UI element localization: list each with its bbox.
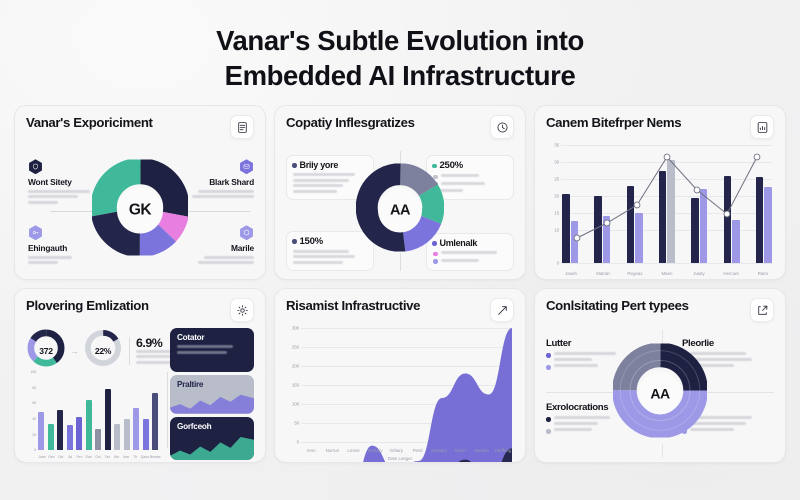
x-tick: Jul [66,455,74,459]
x-tick: Raire [754,271,772,276]
x-tick: Gan [85,455,93,459]
card-title: Plovering Emlization [26,298,149,313]
trend-line [562,145,772,280]
connector-line [662,444,663,458]
donut-chart: AA [356,164,444,257]
y-tick: 50 [294,421,299,426]
y-tick: 20 [554,193,559,198]
x-tick: Amn [302,448,320,453]
x-tick: Tze [103,455,111,459]
legend-value: 150% [300,236,323,247]
y-tick: 300 [292,326,299,331]
y-tick: 15 [554,210,559,215]
y-tick: 250 [292,345,299,350]
divider [698,392,774,393]
x-tick: Jane [38,455,46,459]
card-header: Risamist Infrastructive [286,298,514,322]
trend-up-icon[interactable] [490,298,514,322]
y-tick: 0 [297,440,299,445]
x-axis-labels: JauehMatrahRegeaxMaenJulutyHercuetRaire [562,271,772,276]
page-title: Vanar's Subtle Evolution into Embedded A… [14,24,786,93]
x-tick: Lmere [345,448,363,453]
bar[interactable] [48,424,54,451]
bar-line-chart: 0101520253035 JauehMatrahRegeaxMaenJulut… [546,143,774,277]
card-conlsitating-pert-typees[interactable]: Conlsitating Pert typees Lutter Pleorlie [534,288,786,463]
bar-chart-icon[interactable] [750,115,774,139]
x-tick: Sentary [366,448,384,453]
page-title-line-2: Embedded AI Infrastructure [14,59,786,94]
bar[interactable] [95,429,101,450]
y-tick: 100 [292,402,299,407]
bar[interactable] [57,410,63,451]
legend-value: Briiy yore [300,160,339,170]
x-tick: Oct [94,455,102,459]
x-axis-title: Date Leager [286,456,514,461]
mini-bar-chart: 020406080100 JaneGenOctJulFevGanOctTzeAb… [26,370,158,460]
card-copatiy-inflesgratizes[interactable]: Copatiy Inflesgratizes Briiy yore [274,105,526,280]
card-body: 372 → 22% 6.9% [26,326,254,460]
bar[interactable] [124,419,130,450]
clipboard-icon[interactable] [230,115,254,139]
area-series [302,328,512,463]
sparkline [170,390,254,413]
panel-title: Gorfceoh [177,422,247,431]
bar[interactable] [86,400,92,450]
bar[interactable] [76,417,82,451]
donut-center-label: AA [378,188,422,232]
x-tick: Jaueh [562,271,580,276]
divider [546,392,622,393]
y-tick: 35 [554,143,559,148]
area-chart: 050100150200250300 AmnNurrunLmereSentary… [286,326,514,460]
donut-chart: GK [92,160,188,261]
y-tick: 0 [34,448,36,452]
clock-icon[interactable] [490,115,514,139]
y-axis: 020406080100 [26,372,37,450]
x-tick: Pentl [409,448,427,453]
bar[interactable] [143,419,149,450]
card-title: Risamist Infrastructive [286,298,420,313]
card-header: Vanar's Exporiciment [26,115,254,139]
card-body: Briiy yore 250% [286,143,514,277]
x-tick: Tir [131,455,139,459]
panel-cotator[interactable]: Cotator [170,328,254,371]
y-tick: 10 [554,227,559,232]
panel-stack: Cotator Praltire Gorfceoh [170,328,254,460]
x-tick: Juluty [690,271,708,276]
panel-title: Cotator [177,333,247,342]
x-tick: Jme [122,455,130,459]
card-body: Lutter Pleorlie Exrolocrations Lreal [546,326,774,460]
card-body: 050100150200250300 AmnNurrunLmereSentary… [286,326,514,460]
x-axis-labels: AmnNurrunLmereSentaryGrbaryPentlGentaryI… [302,448,512,453]
card-title: Vanar's Exporiciment [26,115,153,130]
mail-icon [239,159,254,174]
card-body: 0101520253035 JauehMatrahRegeaxMaenJulut… [546,143,774,277]
card-header: Copatiy Inflesgratizes [286,115,514,139]
x-tick: Gentary [430,448,448,453]
panel-title: Praltire [177,380,247,389]
y-tick: 30 [554,160,559,165]
y-tick: 200 [292,364,299,369]
x-tick: Fev [75,455,83,459]
x-tick: Regeax [626,271,644,276]
panel-gorfceoh[interactable]: Gorfceoh [170,417,254,460]
divider [129,337,130,365]
donut-mini-1: 372 [26,328,66,373]
donut-mini-2: 22% [83,328,123,373]
y-axis: 050100150200250300 [286,328,300,442]
card-canem-bitefrper-nems[interactable]: Canem Bitefrper Nems 0101520253035 Jaueh… [534,105,786,280]
bar[interactable] [38,412,44,451]
legend-value: Umlenalk [440,238,478,248]
x-tick: Herffung [494,448,512,453]
card-risamist-infrastructive[interactable]: Risamist Infrastructive 0501001502002503… [274,288,526,463]
x-tick: Abr [113,455,121,459]
gear-icon[interactable] [230,298,254,322]
donut-chart: AA [613,344,707,443]
x-tick: Bmane [150,455,158,459]
donut-value: 372 [39,346,52,356]
panel-praltire[interactable]: Praltire [170,375,254,414]
dashboard-page: Vanar's Subtle Evolution into Embedded A… [0,0,800,500]
x-tick: Hercuet [722,271,740,276]
x-tick: Maen [658,271,676,276]
y-tick: 100 [31,370,36,374]
x-tick: Nurrun [323,448,341,453]
cube-icon [239,225,254,240]
kpi-row: 372 → 22% 6.9% [26,328,192,373]
key-icon [28,225,43,240]
card-vanars-exporiciment[interactable]: Vanar's Exporiciment Wont Sitety [14,105,266,280]
x-tick: Inenn [451,448,469,453]
legend-dot [292,163,297,168]
arrow-right-icon: → [70,346,79,356]
connector-line [662,330,663,344]
donut-center-label: AA [639,372,681,414]
sparkline [170,433,254,460]
y-tick: 25 [554,176,559,181]
y-tick: 40 [32,417,36,421]
card-plovering-emlization[interactable]: Plovering Emlization 372 [14,288,266,463]
bar[interactable] [114,424,120,451]
legend-dot [292,239,297,244]
share-icon[interactable] [750,298,774,322]
card-header: Canem Bitefrper Nems [546,115,774,139]
donut-center-label: GK [117,187,163,233]
x-tick: Matrah [594,271,612,276]
x-tick: Grbary [387,448,405,453]
bar[interactable] [105,389,111,451]
shield-icon [28,159,43,174]
card-title: Conlsitating Pert typees [546,298,689,313]
card-title: Canem Bitefrper Nems [546,115,681,130]
bar-series [38,372,158,450]
x-tick: Oct [57,455,65,459]
card-grid: Vanar's Exporiciment Wont Sitety [14,105,786,463]
divider [167,372,168,448]
page-header: Vanar's Subtle Evolution into Embedded A… [14,0,786,105]
bar[interactable] [67,425,73,450]
bar[interactable] [152,393,158,450]
x-tick: Gen [47,455,55,459]
y-tick: 60 [32,401,36,405]
donut-value: 22% [95,346,111,356]
x-tick: Inenlue [473,448,491,453]
card-body: Wont Sitety Blark Shard Ehingauth [26,143,254,277]
bar[interactable] [133,408,139,450]
y-tick: 0 [557,261,559,266]
y-axis: 0101520253035 [546,145,560,263]
x-tick: Qana [141,455,149,459]
y-tick: 80 [32,386,36,390]
y-tick: 20 [32,433,36,437]
card-title: Copatiy Inflesgratizes [286,115,415,130]
card-header: Conlsitating Pert typees [546,298,774,322]
y-tick: 150 [292,383,299,388]
card-header: Plovering Emlization [26,298,254,322]
x-axis-labels: JaneGenOctJulFevGanOctTzeAbrJmeTirQanaBm… [38,455,158,459]
page-title-line-1: Vanar's Subtle Evolution into [14,24,786,59]
